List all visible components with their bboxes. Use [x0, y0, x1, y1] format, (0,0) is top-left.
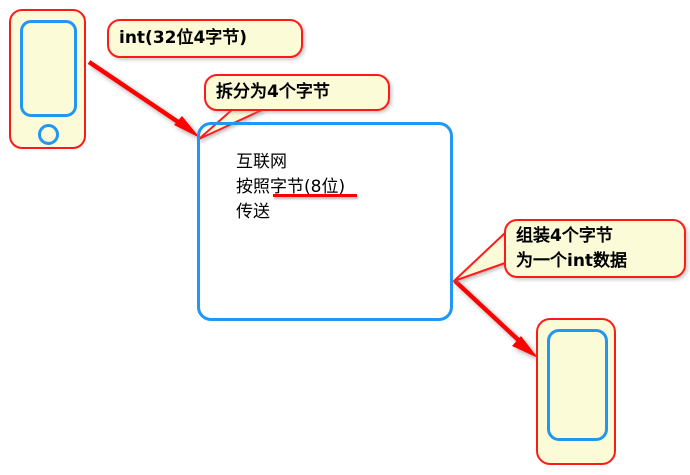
receiver-phone — [536, 318, 616, 465]
internet-box-line-1: 互联网 — [236, 150, 345, 175]
red-underline-mark — [273, 194, 357, 197]
sender-phone-home-button — [38, 124, 59, 145]
internet-box-text: 互联网 按照字节(8位) 传送 — [236, 150, 345, 225]
sender-phone-screen — [20, 20, 77, 117]
callout-assemble-tail — [454, 232, 508, 281]
arrow-split — [89, 62, 200, 138]
internet-box-line-3: 传送 — [236, 200, 345, 225]
diagram-canvas: 互联网 按照字节(8位) 传送 int(32位4字节) 拆分为4个字节 组装4个… — [0, 0, 690, 475]
callout-int-size: int(32位4字节) — [107, 19, 303, 58]
sender-phone — [9, 9, 86, 149]
callout-assemble-int-line-2: 为一个int数据 — [516, 249, 627, 274]
callout-assemble-int-text: 组装4个字节 为一个int数据 — [516, 224, 627, 274]
callout-int-size-label: int(32位4字节) — [119, 27, 247, 50]
callout-split-bytes: 拆分为4个字节 — [204, 74, 390, 111]
internet-box: 互联网 按照字节(8位) 传送 — [197, 122, 453, 321]
callout-assemble-int: 组装4个字节 为一个int数据 — [504, 219, 686, 278]
arrow-assemble — [455, 281, 538, 358]
callout-assemble-int-line-1: 组装4个字节 — [516, 224, 627, 249]
callout-split-bytes-label: 拆分为4个字节 — [216, 81, 330, 104]
receiver-phone-screen — [547, 329, 608, 441]
